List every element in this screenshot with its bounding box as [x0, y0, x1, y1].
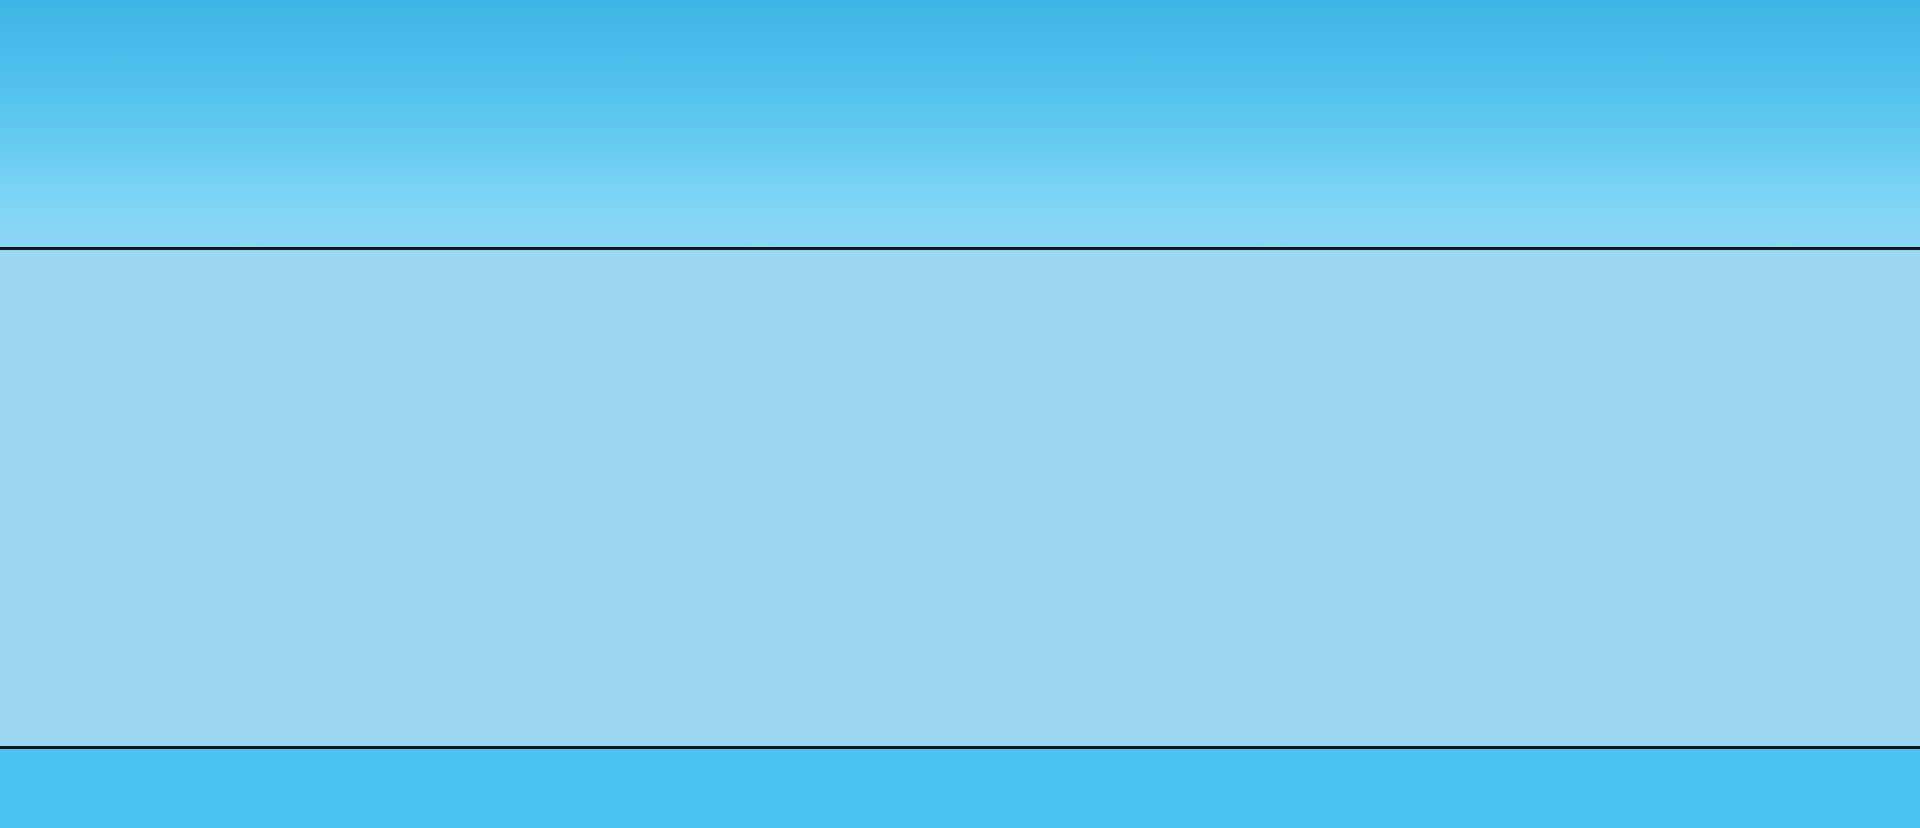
- spectral-chart-page: [0, 0, 1920, 828]
- header-band: [0, 0, 1920, 250]
- spectrum-plot-area: [0, 250, 1920, 746]
- spectrum-canvas: [0, 250, 1920, 746]
- footer-band: [0, 749, 1920, 828]
- axis-top-rule: [0, 247, 1920, 250]
